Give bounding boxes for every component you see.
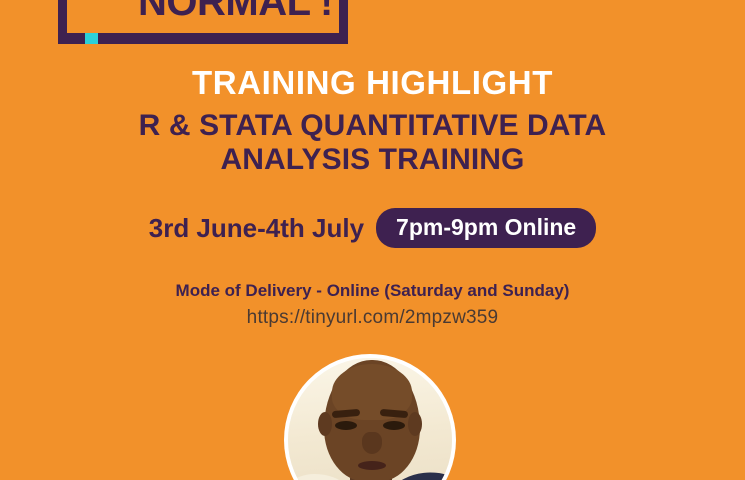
page-title-line-2: ANALYSIS TRAINING: [0, 143, 745, 177]
logo-wordmark: NORMAL: [138, 0, 311, 24]
headline-block: TRAINING HIGHLIGHT R & STATA QUANTITATIV…: [0, 63, 745, 177]
avatar-eye-left: [335, 421, 357, 430]
avatar: [288, 358, 452, 480]
logo-exclamation-mark: !: [320, 0, 333, 24]
delivery-block: Mode of Delivery - Online (Saturday and …: [0, 280, 745, 331]
avatar-eye-right: [383, 421, 405, 430]
brand-logo: NORMAL !: [58, 0, 348, 44]
schedule-row: 3rd June-4th July 7pm-9pm Online: [0, 208, 745, 248]
kicker-text: TRAINING HIGHLIGHT: [0, 63, 745, 103]
page-title: R & STATA QUANTITATIVE DATA ANALYSIS TRA…: [0, 109, 745, 177]
logo-frame-bottom-bar: [58, 33, 348, 44]
time-badge: 7pm-9pm Online: [376, 208, 596, 248]
avatar-mouth: [358, 461, 386, 470]
delivery-mode-text: Mode of Delivery - Online (Saturday and …: [0, 280, 745, 302]
avatar-nose: [362, 432, 382, 454]
page-title-line-1: R & STATA QUANTITATIVE DATA: [0, 109, 745, 143]
course-dates: 3rd June-4th July: [149, 212, 364, 244]
logo-cyan-accent-square: [85, 33, 98, 44]
poster-canvas: NORMAL ! TRAINING HIGHLIGHT R & STATA QU…: [0, 0, 745, 480]
avatar-ear-left: [318, 412, 332, 436]
avatar-ear-right: [408, 412, 422, 436]
registration-link[interactable]: https://tinyurl.com/2mpzw359: [0, 305, 745, 331]
